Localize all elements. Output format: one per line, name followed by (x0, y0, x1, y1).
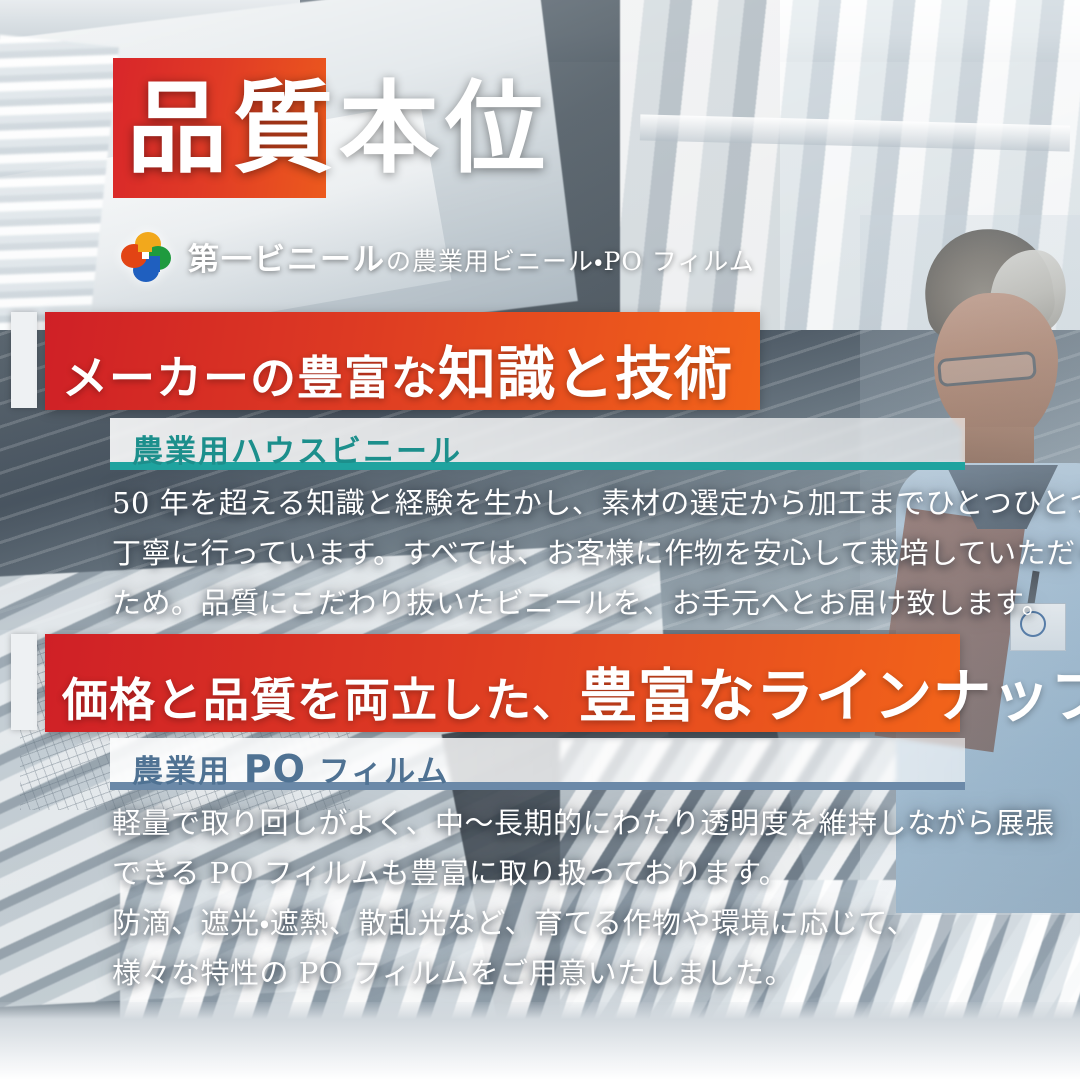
brand-name: 第一ビニール (188, 242, 386, 278)
body-paragraph-1: 50 年を超える知識と経験を生かし、素材の選定から加工までひとつひとつ 丁寧に行… (112, 478, 1080, 628)
page-title: 品質本位 (113, 58, 551, 198)
body-line: 50 年を超える知識と経験を生かし、素材の選定から加工までひとつひとつ (112, 478, 1080, 528)
body-paragraph-2: 軽量で取り回しがよく、中～長期的にわたり透明度を維持しながら展張 できる PO … (112, 798, 1055, 998)
band-emphasis-1: 知識と技術 (438, 340, 733, 408)
body-line: 防滴、遮光・遮熱、散乱光など、育てる作物や環境に応じて、 (112, 898, 1055, 948)
body-line: 軽量で取り回しがよく、中～長期的にわたり透明度を維持しながら展張 (112, 798, 1055, 848)
band-accent-bar-1 (11, 312, 37, 408)
dainichi-flower-logo-icon (118, 228, 174, 284)
subheading-text-1: 農業用ハウスビニール (110, 418, 965, 471)
body-line: ため。品質にこだわり抜いたビニールを、お手元へとお届け致します。 (112, 578, 1080, 628)
body-line: 様々な特性の PO フィルムをご用意いたしました。 (112, 948, 1055, 998)
band-text-1: メーカーの豊富な知識と技術 (62, 327, 733, 411)
subheading-house-vinyl: 農業用ハウスビニール (110, 418, 965, 470)
band-accent-bar-2 (11, 634, 37, 730)
subheading-post-2: フィルム (306, 754, 450, 790)
subheading-text-2: 農業用 PO フィルム (110, 738, 965, 791)
promo-banner: 品質本位 第一ビニールの農業用ビニール・PO フィルム メーカーの (0, 0, 1080, 1080)
subheading-po-film: 農業用 PO フィルム (110, 738, 965, 790)
title-text: 品質本位 (113, 58, 551, 198)
band-lead-1: メーカーの豊富な (62, 351, 438, 405)
brand-text: 第一ビニールの農業用ビニール・PO フィルム (188, 234, 755, 279)
section-band-2: 価格と品質を両立した、豊富なラインナップ (0, 634, 960, 732)
brand-line: 第一ビニールの農業用ビニール・PO フィルム (118, 228, 755, 284)
section-band-1: メーカーの豊富な知識と技術 (0, 312, 760, 410)
body-line: できる PO フィルムも豊富に取り扱っております。 (112, 848, 1055, 898)
band-lead-2: 価格と品質を両立した、 (62, 673, 579, 727)
band-text-2: 価格と品質を両立した、豊富なラインナップ (62, 649, 1080, 733)
band-emphasis-2: 豊富なラインナップ (579, 662, 1080, 730)
title-boxed-part: 品質 (127, 69, 339, 187)
body-line: 丁寧に行っています。すべては、お客様に作物を安心して栽培していただく (112, 528, 1080, 578)
subheading-pre-2: 農業用 (132, 754, 244, 790)
content-layer: 品質本位 第一ビニールの農業用ビニール・PO フィルム メーカーの (0, 0, 1080, 1080)
brand-tagline: の農業用ビニール・PO フィルム (386, 247, 755, 276)
subheading-po-2: PO (244, 747, 306, 791)
title-rest-part: 本位 (339, 69, 551, 187)
